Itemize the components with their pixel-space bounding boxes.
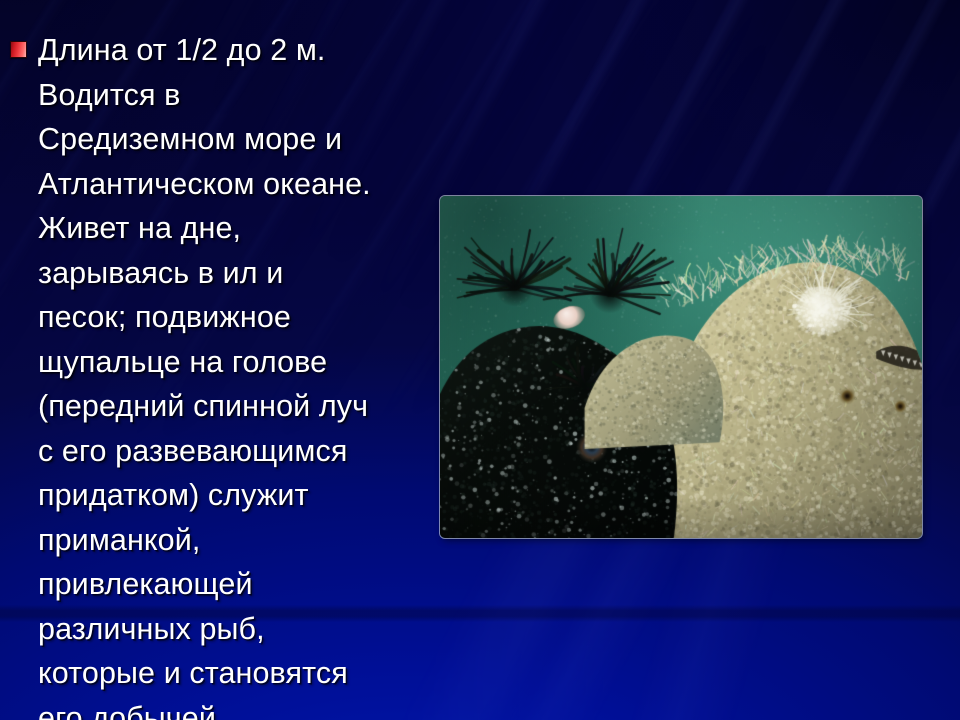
red-square-bullet-icon <box>10 41 27 58</box>
bullet-list-item: Длина от 1/2 до 2 м. Водится в Средиземн… <box>10 28 430 720</box>
slide-body-text-block: Длина от 1/2 до 2 м. Водится в Средиземн… <box>10 28 430 720</box>
slide-body-paragraph: Длина от 1/2 до 2 м. Водится в Средиземн… <box>38 28 430 720</box>
anglerfish-photo-canvas <box>440 196 922 538</box>
anglerfish-photo <box>440 196 922 538</box>
slide-canvas: Длина от 1/2 до 2 м. Водится в Средиземн… <box>0 0 960 720</box>
